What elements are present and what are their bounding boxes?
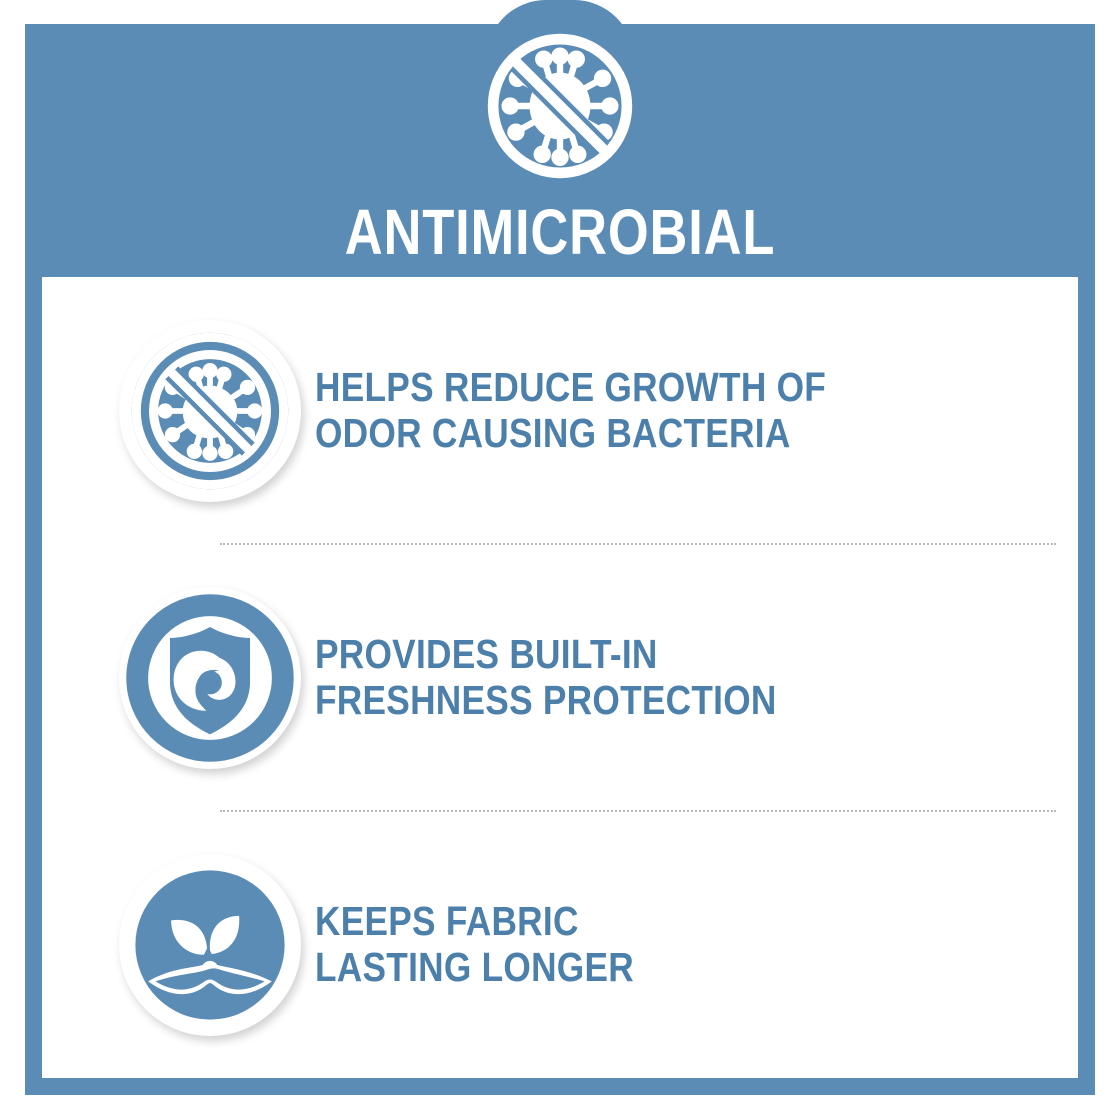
no-germ-icon — [484, 30, 636, 182]
shield-swirl-icon — [119, 587, 301, 769]
list-item: KEEPS FABRIC LASTING LONGER — [42, 811, 1078, 1078]
row-divider — [220, 810, 1056, 812]
feature-line-1: HELPS REDUCE GROWTH OF — [315, 365, 826, 411]
feature-line-2: ODOR CAUSING BACTERIA — [315, 411, 826, 457]
feature-list: HELPS REDUCE GROWTH OF ODOR CAUSING BACT… — [42, 277, 1078, 1078]
header-band: ANTIMICROBIAL — [25, 24, 1095, 276]
infographic-canvas: ANTIMICROBIAL — [0, 0, 1120, 1120]
list-item: PROVIDES BUILT-IN FRESHNESS PROTECTION — [42, 544, 1078, 811]
row-divider — [220, 543, 1056, 545]
feature-text: HELPS REDUCE GROWTH OF ODOR CAUSING BACT… — [315, 365, 826, 457]
no-germ-icon — [119, 320, 301, 502]
feature-line-1: KEEPS FABRIC — [315, 899, 634, 945]
page-title: ANTIMICROBIAL — [121, 200, 998, 264]
feature-text: KEEPS FABRIC LASTING LONGER — [315, 899, 634, 991]
feature-text: PROVIDES BUILT-IN FRESHNESS PROTECTION — [315, 632, 777, 724]
feature-line-2: LASTING LONGER — [315, 945, 634, 991]
feature-line-1: PROVIDES BUILT-IN — [315, 632, 777, 678]
list-item: HELPS REDUCE GROWTH OF ODOR CAUSING BACT… — [42, 277, 1078, 544]
content-panel: HELPS REDUCE GROWTH OF ODOR CAUSING BACT… — [42, 277, 1078, 1078]
feature-line-2: FRESHNESS PROTECTION — [315, 678, 777, 724]
leaf-sprout-icon — [119, 854, 301, 1036]
